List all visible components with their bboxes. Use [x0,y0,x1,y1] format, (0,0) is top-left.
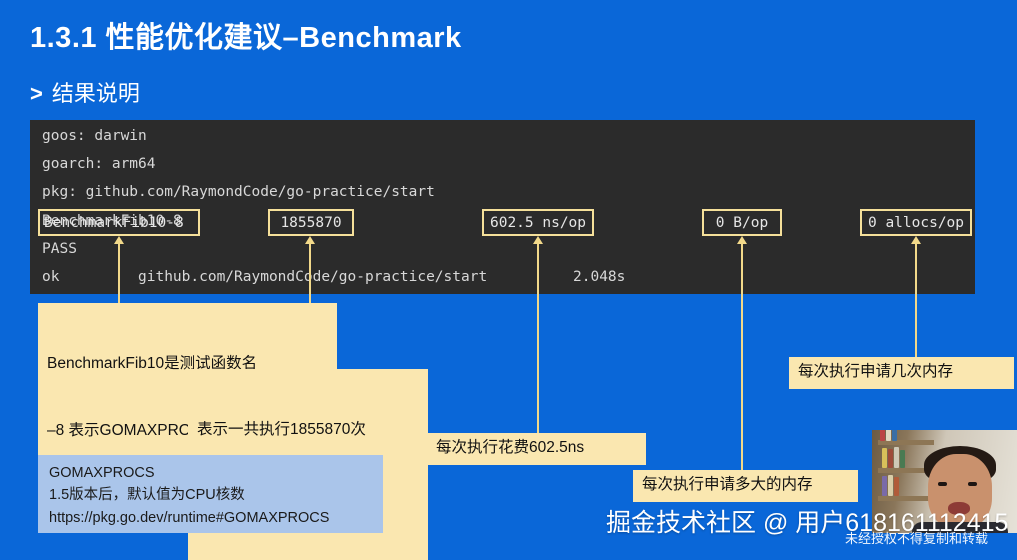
connector-allocs-per-op [915,244,917,357]
callout-allocs-per-op: 每次执行申请几次内存 [789,357,1014,389]
page-title: 1.3.1 性能优化建议–Benchmark [30,14,462,56]
callout-bytes-per-op: 每次执行申请多大的内存 [633,470,858,502]
connector-bytes-per-op [741,244,743,470]
gomaxprocs-info-line2: 1.5版本后，默认值为CPU核数 [49,484,372,506]
arrow-ns-per-op [533,236,543,244]
highlight-allocs-per-op: 0 allocs/op [860,209,972,236]
connector-ns-per-op [537,244,539,433]
callout-ns-per-op: 每次执行花费602.5ns [427,433,646,465]
terminal-line-pass: PASS [42,241,77,257]
terminal-output: goos: darwin goarch: arm64 pkg: github.c… [30,120,975,294]
callout-bytes-per-op-line1: 每次执行申请多大的内存 [642,474,813,496]
terminal-line-goarch: goarch: arm64 [42,156,156,172]
webcam-person-eye [968,482,977,486]
section-subtitle: >结果说明 [30,76,140,108]
slide-canvas: 1.3.1 性能优化建议–Benchmark >结果说明 goos: darwi… [0,0,1017,547]
book [892,430,897,441]
callout-allocs-per-op-line1: 每次执行申请几次内存 [798,361,953,383]
subtitle-label: 结果说明 [52,81,140,106]
gomaxprocs-info-title: GOMAXPROCS [49,462,372,484]
highlight-ns-per-op: 602.5 ns/op [482,209,594,236]
book [900,450,905,468]
gomaxprocs-info-link[interactable]: https://pkg.go.dev/runtime#GOMAXPROCS [49,507,372,529]
book [888,449,893,468]
gomaxprocs-info-box: GOMAXPROCS 1.5版本后，默认值为CPU核数 https://pkg.… [38,455,383,533]
watermark-subtext: 未经授权不得复制和转载 [845,528,988,547]
terminal-line-pkg: pkg: github.com/RaymondCode/go-practice/… [42,184,435,200]
book [886,430,891,441]
book [888,475,893,496]
highlight-iterations: 1855870 [268,209,354,236]
terminal-ok-path: github.com/RaymondCode/go-practice/start [138,269,487,285]
bookshelf-shelf [878,496,934,501]
highlight-bytes-per-op: 0 B/op [702,209,782,236]
book [882,476,887,496]
chevron-right-icon: > [30,81,43,106]
book [894,477,899,496]
webcam-person-eye [938,482,947,486]
book [894,447,899,468]
book [880,430,885,441]
terminal-line-ok: ok [42,269,59,285]
arrow-bytes-per-op [737,236,747,244]
callout-iterations-line1: 表示一共执行1855870次 [197,419,419,441]
terminal-ok-time: 2.048s [573,269,625,285]
arrow-benchmark-name [114,236,124,244]
arrow-iterations [305,236,315,244]
highlight-benchmark-name: BenchmarkFib10-8 [38,209,200,236]
arrow-allocs-per-op [911,236,921,244]
callout-ns-per-op-line1: 每次执行花费602.5ns [436,437,584,459]
connector-benchmark-name [118,244,120,303]
terminal-line-goos: goos: darwin [42,128,147,144]
book [882,448,887,468]
